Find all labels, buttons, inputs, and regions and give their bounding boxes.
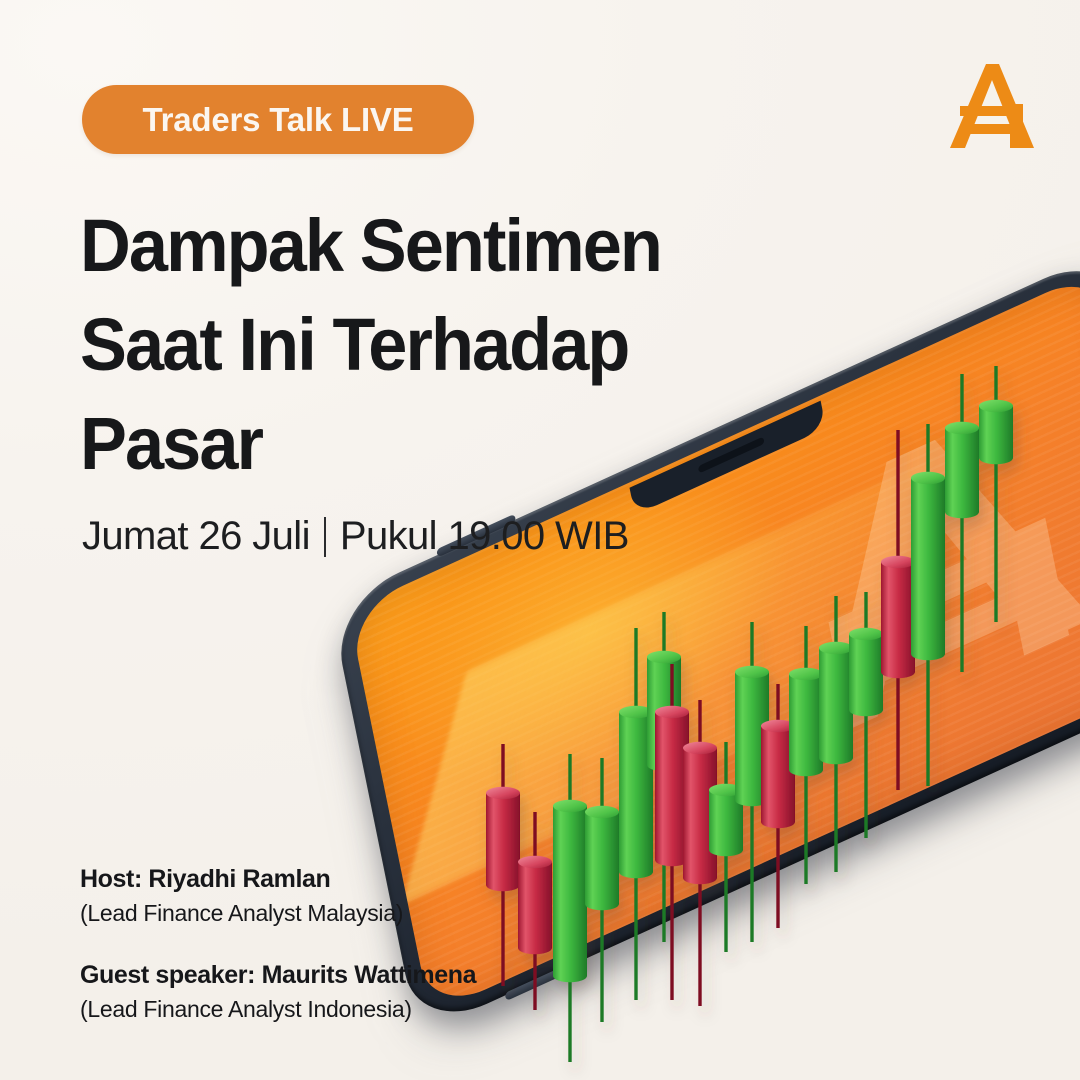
candle-16 — [911, 424, 945, 786]
credit-host: Host: Riyadhi Ramlan (Lead Finance Analy… — [80, 862, 476, 930]
live-badge[interactable]: Traders Talk LIVE — [82, 85, 474, 154]
schedule-time: Pukul 19.00 WIB — [340, 514, 629, 559]
candle-12 — [789, 626, 823, 884]
schedule-line: Jumat 26 Juli Pukul 19.00 WIB — [82, 514, 629, 559]
candle-1 — [486, 744, 520, 986]
title-line-3: Pasar — [80, 394, 802, 493]
credits-spacer — [80, 930, 476, 958]
credit-guest: Guest speaker: Maurits Wattimena (Lead F… — [80, 958, 476, 1026]
credit-host-name: Host: Riyadhi Ramlan — [80, 862, 476, 896]
credit-guest-role: (Lead Finance Analyst Indonesia) — [80, 992, 476, 1026]
candle-3 — [553, 754, 587, 1062]
a-mark-logo — [940, 56, 1044, 156]
schedule-date: Jumat 26 Juli — [82, 514, 310, 559]
candle-15 — [881, 430, 915, 790]
candle-4 — [585, 758, 619, 1022]
candle-13 — [819, 596, 853, 872]
candle-17 — [945, 374, 979, 672]
title-line-2: Saat Ini Terhadap — [80, 295, 802, 394]
title-line-1: Dampak Sentimen — [80, 196, 802, 295]
page-title: Dampak Sentimen Saat Ini Terhadap Pasar — [80, 196, 840, 493]
speaker-credits: Host: Riyadhi Ramlan (Lead Finance Analy… — [80, 862, 476, 1026]
live-badge-label: Traders Talk LIVE — [142, 101, 413, 139]
candle-14 — [849, 592, 883, 838]
candle-18 — [979, 366, 1013, 622]
promo-poster: Traders Talk LIVE Dampak Sentimen Saat I… — [0, 0, 1080, 1080]
credit-guest-name: Guest speaker: Maurits Wattimena — [80, 958, 476, 992]
schedule-separator — [324, 517, 326, 557]
credit-host-role: (Lead Finance Analyst Malaysia) — [80, 896, 476, 930]
candle-2 — [518, 812, 552, 1010]
